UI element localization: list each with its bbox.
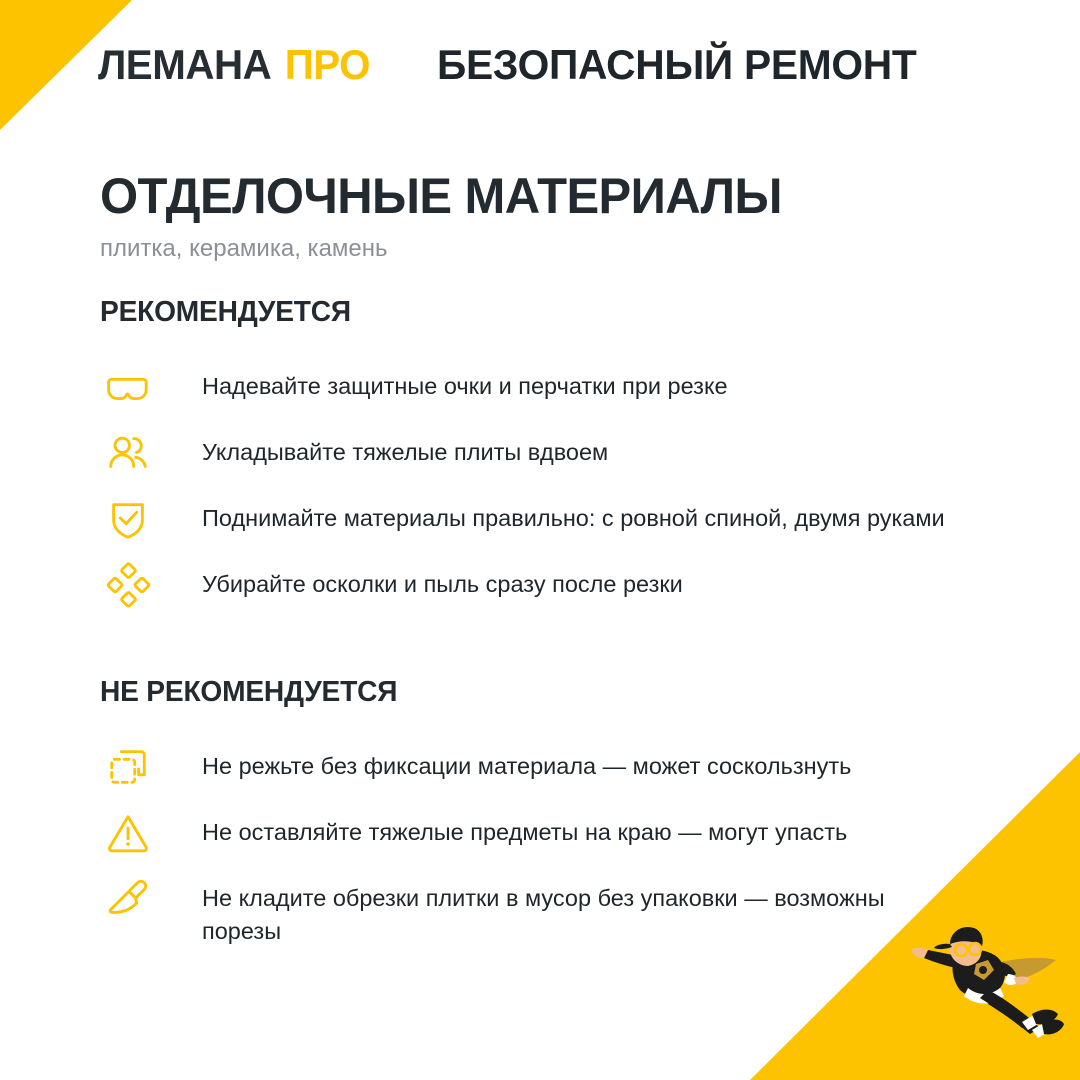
title-block: ОТДЕЛОЧНЫЕ МАТЕРИАЛЫ плитка, керамика, к…	[100, 170, 960, 263]
list-item: Поднимайте материалы правильно: с ровной…	[100, 493, 980, 545]
header-tagline: БЕЗОПАСНЫЙ РЕМОНТ	[437, 44, 916, 86]
logo-accent-text: ПРО	[285, 44, 370, 86]
warning-triangle-icon	[100, 807, 156, 859]
list-item-text: Надевайте защитные очки и перчатки при р…	[202, 361, 962, 403]
page-subtitle: плитка, керамика, камень	[100, 235, 960, 264]
poster-canvas: ЛЕМАНА ПРО БЕЗОПАСНЫЙ РЕМОНТ ОТДЕЛОЧНЫЕ …	[0, 0, 1080, 1080]
four-diamonds-icon	[100, 559, 156, 611]
list-item-text: Не кладите обрезки плитки в мусор без уп…	[202, 873, 962, 949]
list-item: Укладывайте тяжелые плиты вдвоем	[100, 427, 980, 479]
section-recommended: РЕКОМЕНДУЕТСЯ Надевайте защитные очки и …	[100, 298, 980, 625]
list-item: Не оставляйте тяжелые предметы на краю —…	[100, 807, 980, 859]
unfixed-material-icon	[100, 741, 156, 793]
list-item-text: Не режьте без фиксации материала — может…	[202, 741, 962, 783]
section-heading-unrecommended: НЕ РЕКОМЕНДУЕТСЯ	[100, 678, 954, 707]
list-item-text: Убирайте осколки и пыль сразу после резк…	[202, 559, 962, 601]
logo-primary-text: ЛЕМАНА	[98, 44, 271, 86]
page-title: ОТДЕЛОЧНЫЕ МАТЕРИАЛЫ	[100, 170, 943, 223]
list-item: Не режьте без фиксации материала — может…	[100, 741, 980, 793]
shield-check-icon	[100, 493, 156, 545]
safety-goggles-icon	[100, 361, 156, 413]
list-item: Убирайте осколки и пыль сразу после резк…	[100, 559, 980, 611]
list-item-text: Укладывайте тяжелые плиты вдвоем	[202, 427, 962, 469]
list-item-text: Не оставляйте тяжелые предметы на краю —…	[202, 807, 962, 849]
list-item: Надевайте защитные очки и перчатки при р…	[100, 361, 980, 413]
unrecommended-item-list: Не режьте без фиксации материала — может…	[100, 741, 980, 949]
list-item: Не кладите обрезки плитки в мусор без уп…	[100, 873, 980, 949]
section-unrecommended: НЕ РЕКОМЕНДУЕТСЯ Не режьте без фиксации …	[100, 678, 980, 963]
two-people-icon	[100, 427, 156, 479]
knife-icon	[100, 873, 156, 925]
recommended-item-list: Надевайте защитные очки и перчатки при р…	[100, 361, 980, 611]
poster-header: ЛЕМАНА ПРО БЕЗОПАСНЫЙ РЕМОНТ	[98, 44, 932, 86]
lemana-pro-logo: ЛЕМАНА ПРО	[98, 44, 370, 86]
list-item-text: Поднимайте материалы правильно: с ровной…	[202, 493, 962, 535]
section-heading-recommended: РЕКОМЕНДУЕТСЯ	[100, 298, 954, 327]
